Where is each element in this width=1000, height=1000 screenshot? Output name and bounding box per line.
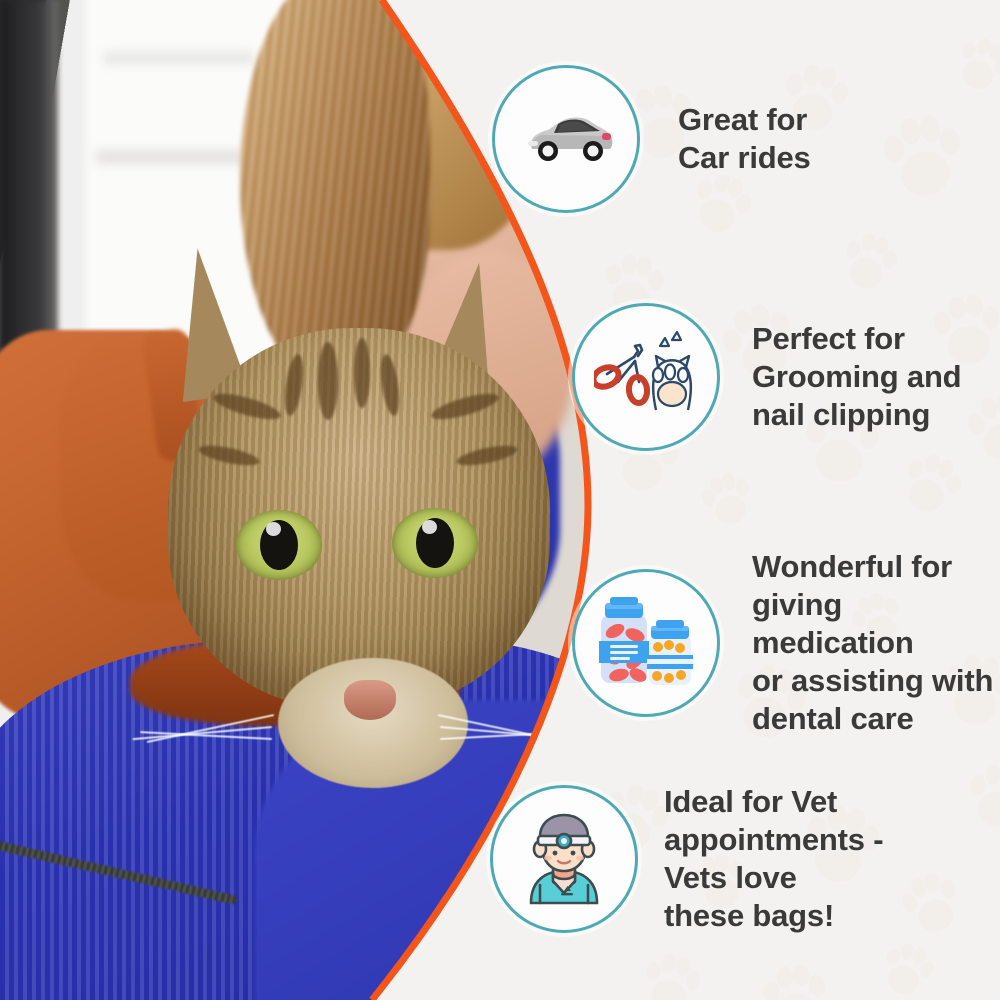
feature-item-medication: Wonderful for giving medication or assis… — [572, 548, 1000, 738]
feature-item-grooming: Perfect for Grooming and nail clipping — [572, 303, 961, 451]
nail-clippers-paw-icon — [572, 303, 720, 451]
car-icon — [492, 65, 640, 213]
feature-item-vet: Ideal for Vet appointments - Vets love t… — [490, 783, 883, 935]
feature-item-car-rides: Great for Car rides — [492, 65, 811, 213]
feature-label: Great for Car rides — [678, 101, 811, 177]
feature-label: Wonderful for giving medication or assis… — [752, 548, 1000, 738]
feature-list: Great for Car rides — [0, 0, 1000, 1000]
veterinarian-icon — [490, 785, 638, 933]
medication-bottles-icon — [572, 569, 720, 717]
feature-label: Ideal for Vet appointments - Vets love t… — [664, 783, 883, 935]
product-feature-infographic: Great for Car rides — [0, 0, 1000, 1000]
feature-label: Perfect for Grooming and nail clipping — [752, 320, 961, 434]
